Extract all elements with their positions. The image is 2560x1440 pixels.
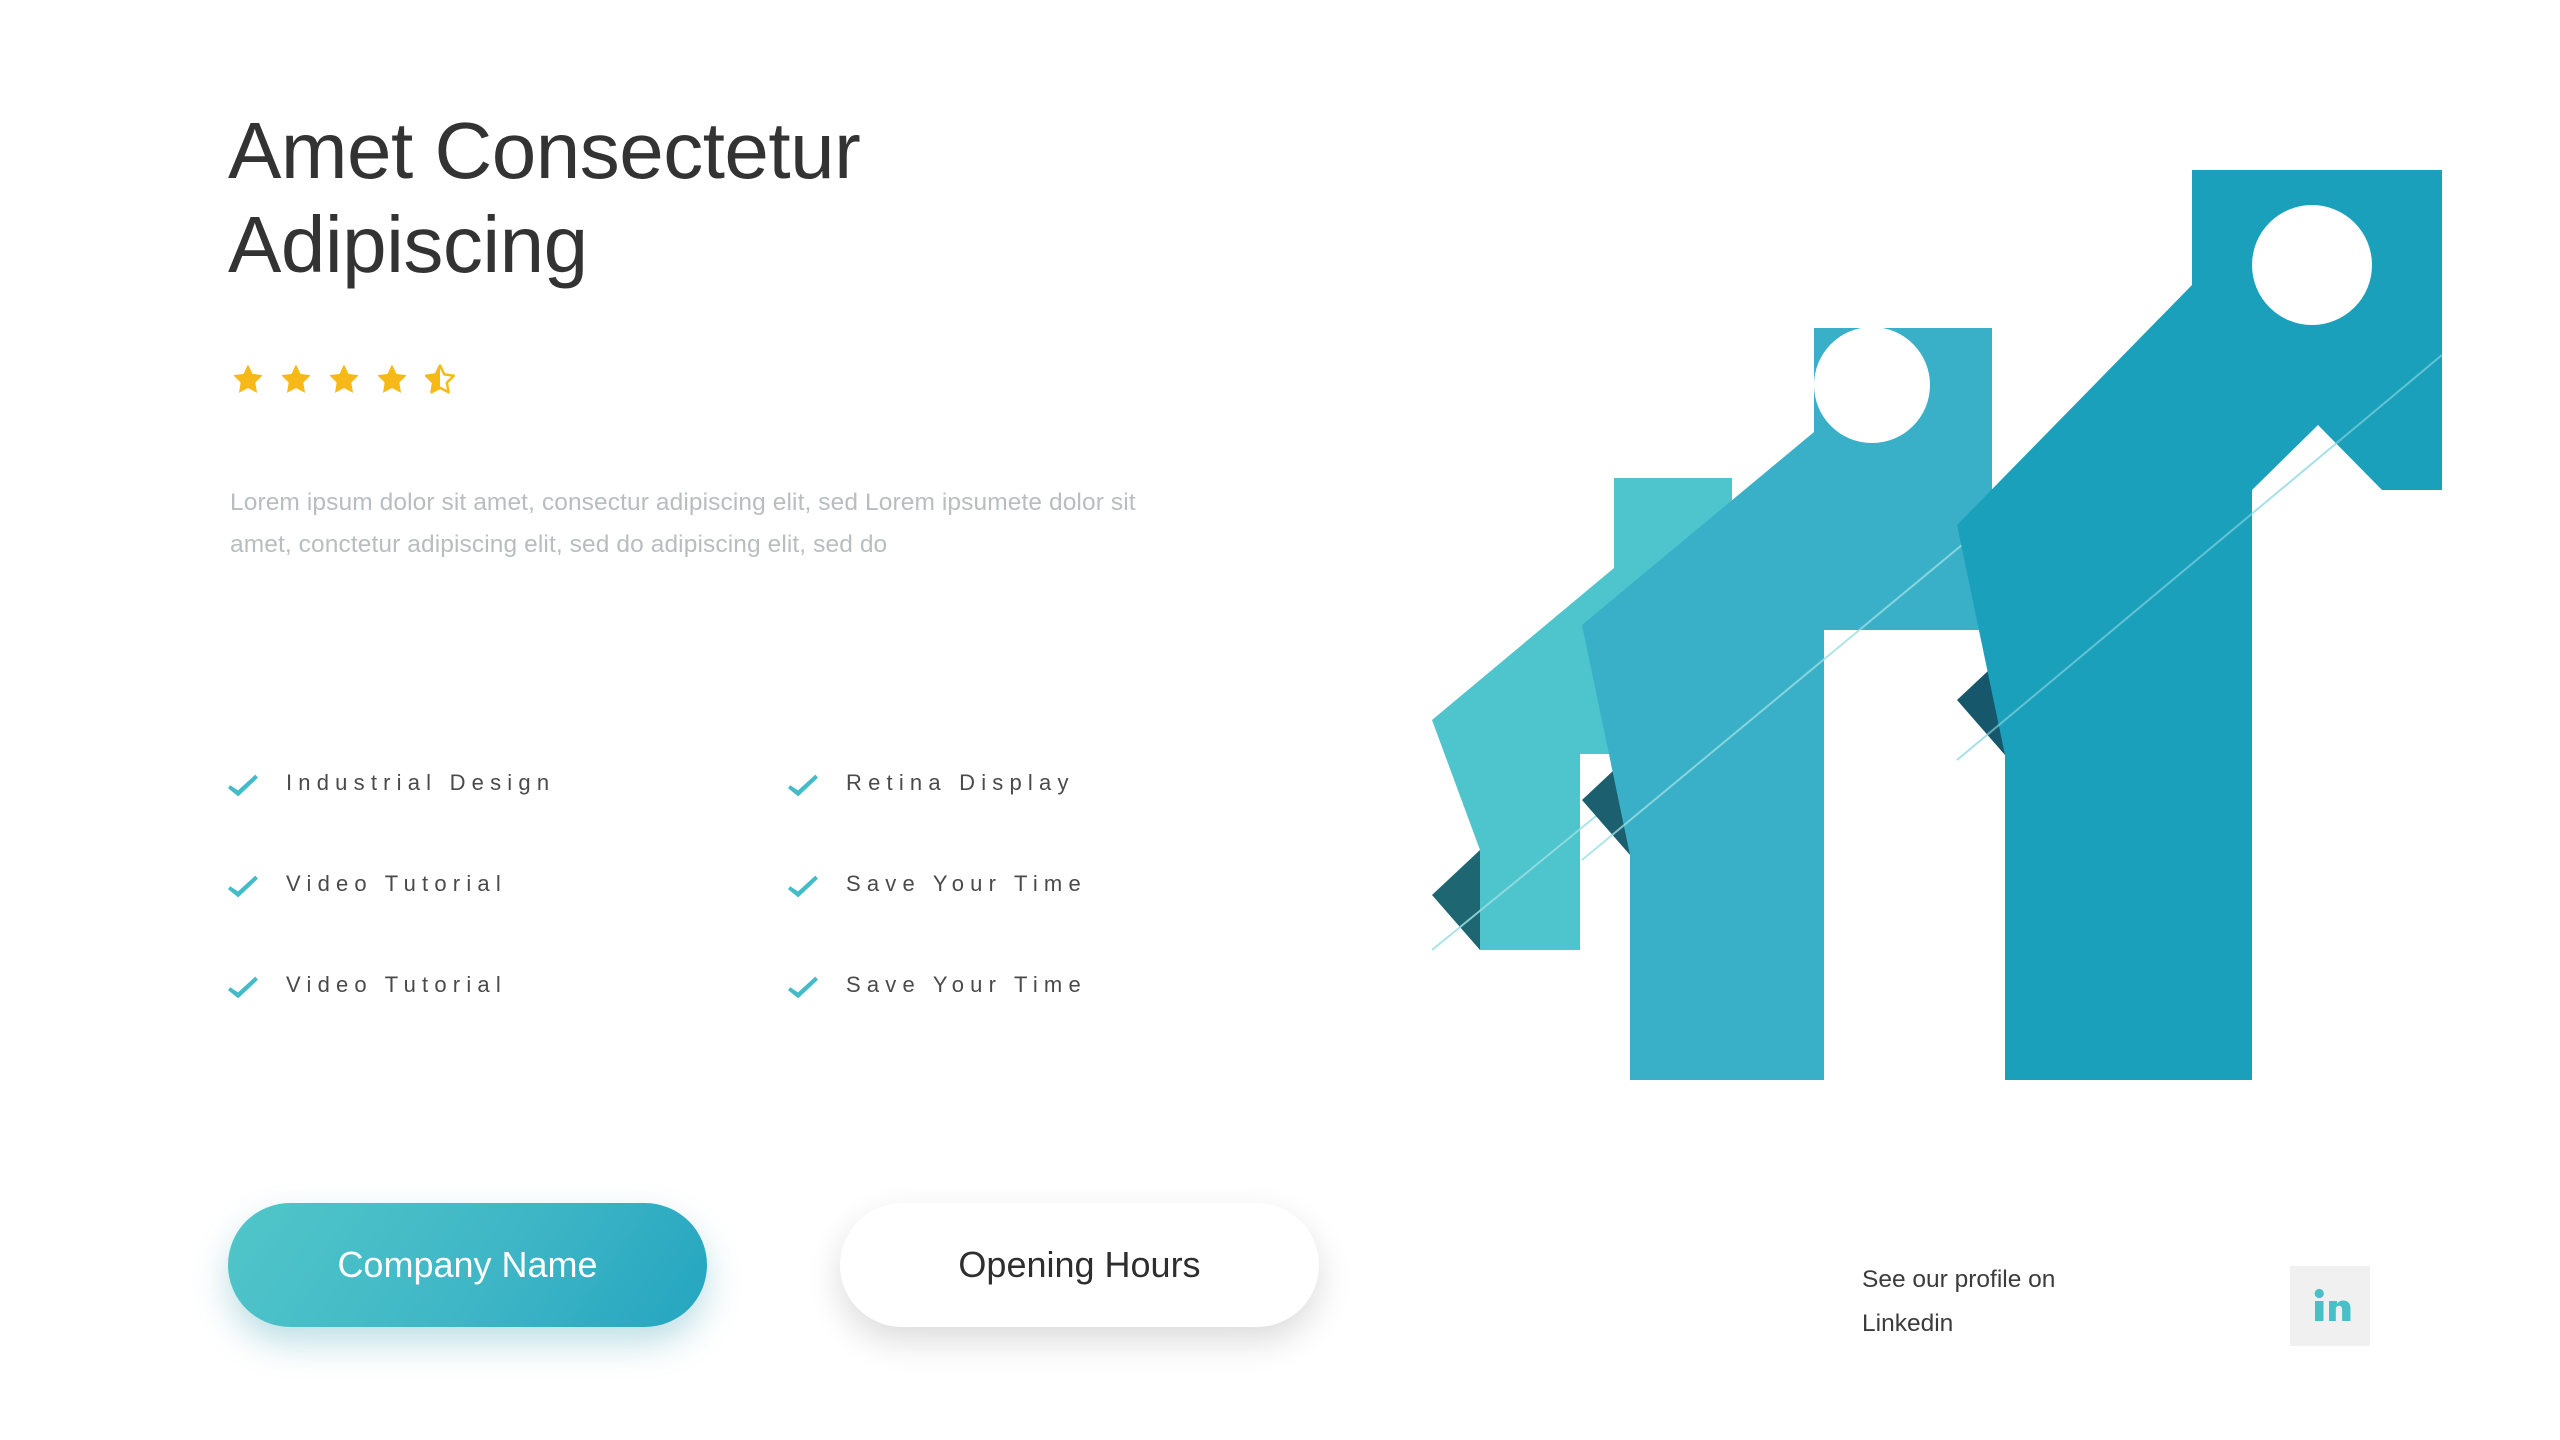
check-icon <box>228 772 286 798</box>
star-icon-full-2 <box>278 362 314 397</box>
list-item: Video Tutorial <box>228 974 788 1075</box>
feature-list: Industrial Design Retina Display Video T… <box>228 772 1288 1075</box>
list-item-label: Save Your Time <box>846 974 1087 996</box>
list-item: Save Your Time <box>788 974 1288 1075</box>
lead-paragraph: Lorem ipsum dolor sit amet, consectur ad… <box>230 482 1200 566</box>
list-item: Industrial Design <box>228 772 788 873</box>
page-title: Amet Consectetur Adipiscing <box>228 104 1228 293</box>
growth-arrows-illustration <box>1432 160 2442 1080</box>
opening-hours-button[interactable]: Opening Hours <box>840 1203 1319 1327</box>
linkedin-icon[interactable] <box>2290 1266 2370 1346</box>
arrow-large <box>1957 170 2442 1080</box>
social-profile-block[interactable]: See our profile on Linkedin <box>1862 1258 2370 1346</box>
check-icon <box>788 772 846 798</box>
arrow-medium <box>1582 327 1992 1080</box>
star-icon-half-5 <box>422 362 458 397</box>
left-content-column: Amet Consectetur Adipiscing <box>228 0 1308 1440</box>
star-icon-full-3 <box>326 362 362 397</box>
list-item: Save Your Time <box>788 873 1288 974</box>
list-item: Retina Display <box>788 772 1288 873</box>
star-icon-full-1 <box>230 362 266 397</box>
check-icon <box>228 974 286 1000</box>
cta-button-row: Company Name Opening Hours <box>228 1203 1319 1327</box>
social-prompt-text: See our profile on Linkedin <box>1862 1258 2162 1345</box>
slide-canvas: Amet Consectetur Adipiscing <box>0 0 2560 1440</box>
list-item-label: Industrial Design <box>286 772 555 794</box>
list-item-label: Save Your Time <box>846 873 1087 895</box>
list-item: Video Tutorial <box>228 873 788 974</box>
list-item-label: Retina Display <box>846 772 1075 794</box>
star-rating <box>230 362 458 397</box>
check-icon <box>228 873 286 899</box>
check-icon <box>788 974 846 1000</box>
list-item-label: Video Tutorial <box>286 974 507 996</box>
company-name-button[interactable]: Company Name <box>228 1203 707 1327</box>
list-item-label: Video Tutorial <box>286 873 507 895</box>
star-icon-full-4 <box>374 362 410 397</box>
check-icon <box>788 873 846 899</box>
